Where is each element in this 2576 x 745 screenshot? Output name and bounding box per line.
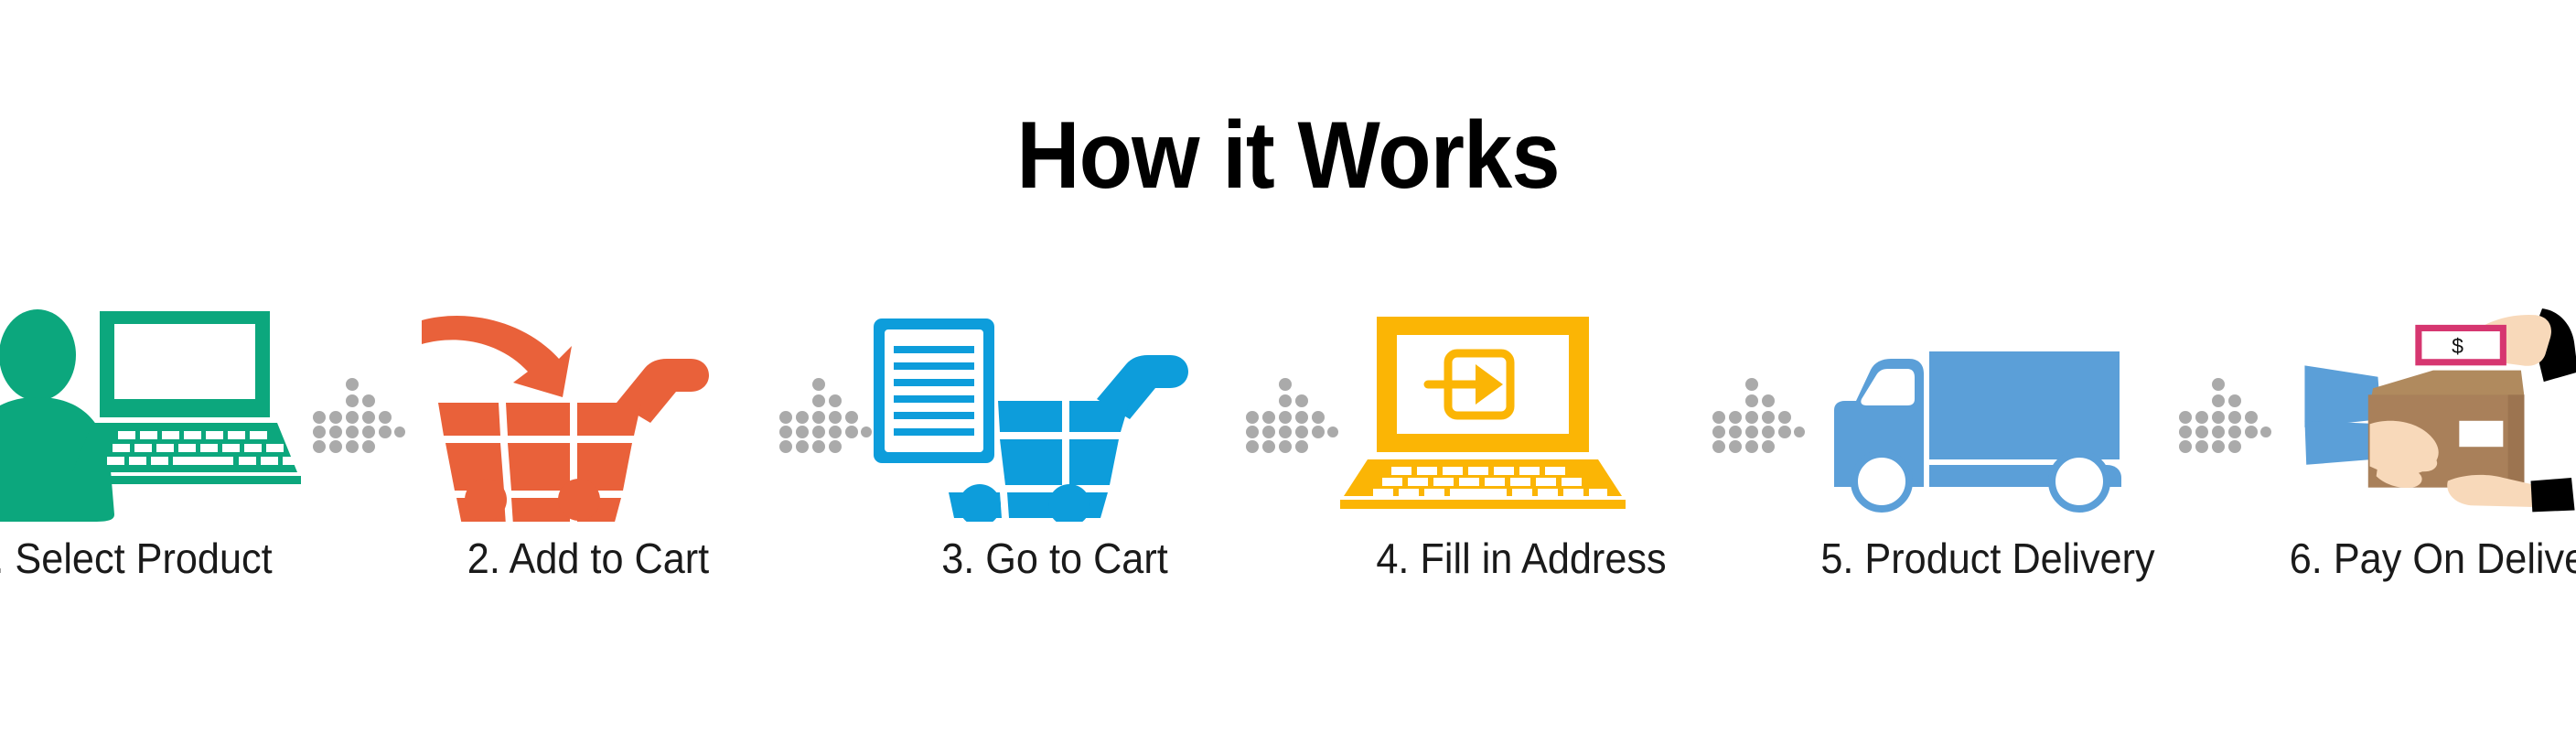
step-1-select-product[interactable]: 1. Select Product: [0, 302, 305, 668]
step-2-label: 2. Add to Cart: [416, 535, 760, 581]
dotted-arrow-icon: [2171, 302, 2271, 522]
page-title: How it Works: [103, 108, 2474, 203]
step-5-product-delivery[interactable]: 5. Product Delivery: [1805, 302, 2171, 668]
shopping-cart-with-arrow-icon: [405, 302, 771, 522]
delivery-truck-icon: [1805, 302, 2171, 522]
step-6-label: 6. Pay On Delivery: [2282, 535, 2576, 581]
step-3-go-to-cart[interactable]: 3. Go to Cart: [872, 302, 1238, 668]
shopping-cart-with-list-icon: [872, 302, 1238, 522]
step-2-add-to-cart[interactable]: 2. Add to Cart: [405, 302, 771, 668]
laptop-login-icon: [1338, 302, 1704, 522]
how-it-works-infographic: How it Works: [0, 0, 2576, 745]
dotted-arrow-icon: [771, 302, 872, 522]
step-1-label: 1. Select Product: [0, 535, 294, 581]
step-5-label: 5. Product Delivery: [1816, 535, 2160, 581]
dotted-arrow-icon: [1238, 302, 1338, 522]
step-3-label: 3. Go to Cart: [883, 535, 1227, 581]
step-4-label: 4. Fill in Address: [1349, 535, 1693, 581]
hands-exchanging-box-and-money-icon: $: [2271, 302, 2576, 522]
step-6-pay-on-delivery[interactable]: $: [2271, 302, 2576, 668]
steps-row: 1. Select Product: [0, 302, 2576, 668]
person-with-laptop-icon: [0, 302, 305, 522]
step-4-fill-in-address[interactable]: 4. Fill in Address: [1338, 302, 1704, 668]
dotted-arrow-icon: [305, 302, 405, 522]
dotted-arrow-icon: [1704, 302, 1805, 522]
dollar-symbol: $: [2452, 334, 2463, 358]
